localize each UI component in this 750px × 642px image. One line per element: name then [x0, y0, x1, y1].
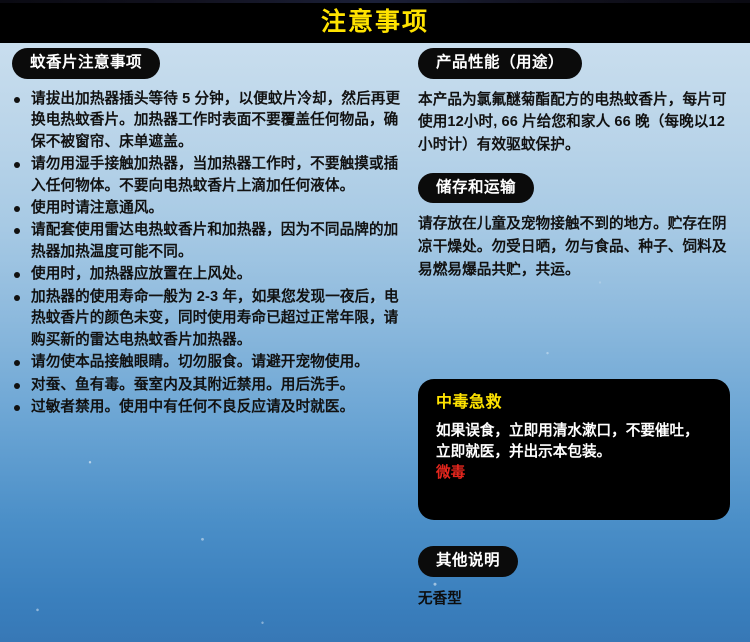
list-item: 请勿使本品接触眼睛。切勿服食。请避开宠物使用。	[12, 352, 405, 373]
section-header-performance: 产品性能（用途）	[418, 48, 738, 79]
storage-body: 请存放在儿童及宠物接触不到的地方。贮存在阴凉干燥处。勿受日晒，勿与食品、种子、饲…	[418, 213, 738, 281]
emergency-title: 中毒急救	[436, 393, 712, 412]
emergency-card: 中毒急救 如果误食，立即用清水漱口，不要催吐，立即就医，并出示本包装。 微毒	[418, 379, 730, 520]
section-label-storage: 储存和运输	[418, 173, 534, 204]
list-item: 使用时请注意通风。	[12, 198, 405, 219]
list-item: 对蚕、鱼有毒。蚕室内及其附近禁用。用后洗手。	[12, 375, 405, 396]
list-item: 加热器的使用寿命一般为 2-3 年，如果您发现一夜后，电热蚊香片的颜色未变，同时…	[12, 287, 405, 351]
list-item: 请拔出加热器插头等待 5 分钟，以便蚊片冷却，然后再更换电热蚊香片。加热器工作时…	[12, 89, 405, 153]
section-performance: 产品性能（用途） 本产品为氯氟醚菊酯配方的电热蚊香片，每片可使用12小时, 66…	[418, 48, 738, 157]
section-label-other: 其他说明	[418, 546, 518, 577]
other-body: 无香型	[418, 589, 738, 609]
emergency-body: 如果误食，立即用清水漱口，不要催吐，立即就医，并出示本包装。	[436, 421, 712, 462]
section-label-precautions: 蚊香片注意事项	[12, 48, 160, 79]
header-sheen	[0, 0, 750, 3]
performance-body: 本产品为氯氟醚菊酯配方的电热蚊香片，每片可使用12小时, 66 片给您和家人 6…	[418, 89, 738, 157]
list-item: 请配套使用雷达电热蚊香片和加热器，因为不同品牌的加热器加热温度可能不同。	[12, 220, 405, 263]
right-column: 产品性能（用途） 本产品为氯氟醚菊酯配方的电热蚊香片，每片可使用12小时, 66…	[418, 48, 738, 294]
section-other: 其他说明 无香型	[418, 546, 738, 609]
product-instructions-page: 注意事项 蚊香片注意事项 请拔出加热器插头等待 5 分钟，以便蚊片冷却，然后再更…	[0, 0, 750, 642]
section-label-performance: 产品性能（用途）	[418, 48, 582, 79]
section-header-other: 其他说明	[418, 546, 738, 577]
page-header: 注意事项	[0, 0, 750, 43]
page-title: 注意事项	[321, 8, 429, 35]
left-column: 蚊香片注意事项 请拔出加热器插头等待 5 分钟，以便蚊片冷却，然后再更换电热蚊香…	[12, 48, 405, 419]
section-header-precautions: 蚊香片注意事项	[12, 48, 405, 79]
precautions-list: 请拔出加热器插头等待 5 分钟，以便蚊片冷却，然后再更换电热蚊香片。加热器工作时…	[12, 89, 405, 419]
list-item: 过敏者禁用。使用中有任何不良反应请及时就医。	[12, 397, 405, 418]
list-item: 请勿用湿手接触加热器，当加热器工作时，不要触摸或插入任何物体。不要向电热蚊香片上…	[12, 154, 405, 197]
section-storage: 储存和运输 请存放在儿童及宠物接触不到的地方。贮存在阴凉干燥处。勿受日晒，勿与食…	[418, 173, 738, 282]
section-header-storage: 储存和运输	[418, 173, 738, 204]
toxicity-badge: 微毒	[436, 463, 712, 484]
list-item: 使用时，加热器应放置在上风处。	[12, 264, 405, 285]
